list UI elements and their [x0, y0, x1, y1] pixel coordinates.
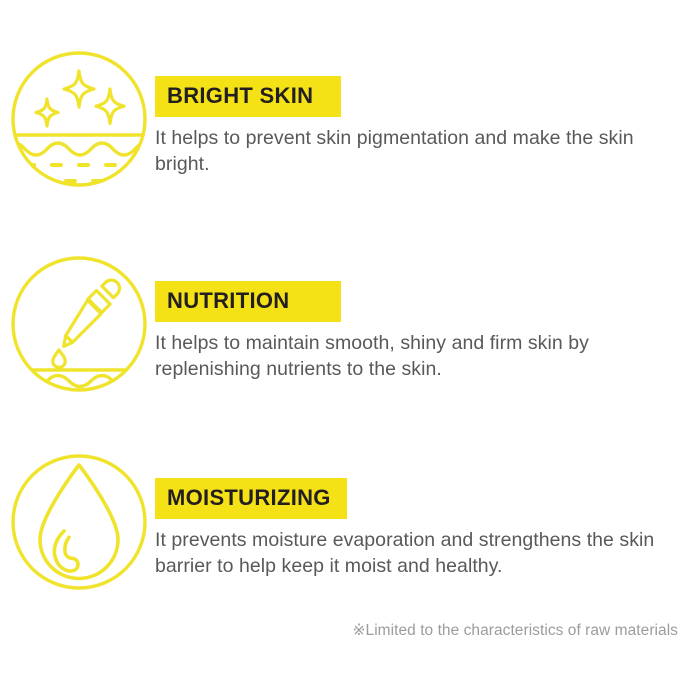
moisturizing-icon-container	[0, 447, 155, 597]
feature-description-bright-skin: It helps to prevent skin pigmentation an…	[155, 126, 690, 178]
bright-skin-text-block: BRIGHT SKIN It helps to prevent skin pig…	[155, 45, 700, 178]
nutrition-icon-container	[0, 250, 155, 398]
feature-description-moisturizing: It prevents moisture evaporation and str…	[155, 528, 690, 580]
nutrition-dropper-circle-icon	[7, 250, 151, 398]
nutrition-text-block: NUTRITION It helps to maintain smooth, s…	[155, 250, 700, 383]
bright-skin-icon-container	[0, 45, 155, 193]
bright-skin-sparkle-circle-icon	[7, 45, 151, 193]
feature-row-nutrition: NUTRITION It helps to maintain smooth, s…	[0, 250, 700, 398]
moisturizing-water-drop-circle-icon	[7, 447, 151, 597]
feature-title-bright-skin: BRIGHT SKIN	[155, 76, 341, 117]
feature-row-moisturizing: MOISTURIZING It prevents moisture evapor…	[0, 447, 700, 597]
feature-title-moisturizing: MOISTURIZING	[155, 478, 347, 519]
feature-benefits-panel: BRIGHT SKIN It helps to prevent skin pig…	[0, 0, 700, 700]
feature-title-nutrition: NUTRITION	[155, 281, 341, 322]
feature-description-nutrition: It helps to maintain smooth, shiny and f…	[155, 331, 690, 383]
moisturizing-text-block: MOISTURIZING It prevents moisture evapor…	[155, 447, 700, 580]
feature-row-bright-skin: BRIGHT SKIN It helps to prevent skin pig…	[0, 45, 700, 193]
footnote-disclaimer: ※Limited to the characteristics of raw m…	[0, 622, 678, 641]
